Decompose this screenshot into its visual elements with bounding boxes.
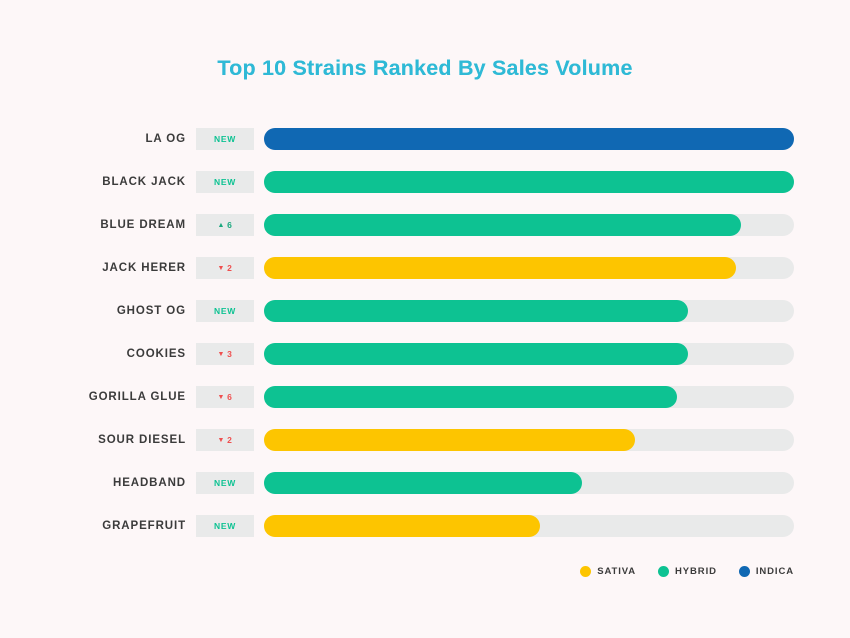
bar-fill[interactable]: [264, 257, 736, 279]
bar-fill[interactable]: [264, 128, 794, 150]
bar-row[interactable]: JACK HERER▼2: [0, 257, 850, 279]
bar-track: [264, 171, 794, 193]
rank-change-label: 3: [227, 349, 232, 359]
legend-label: SATIVA: [597, 566, 636, 577]
row-label: LA OG: [0, 128, 186, 150]
arrow-down-icon: ▼: [217, 437, 225, 444]
bar-row[interactable]: GORILLA GLUE▼6: [0, 386, 850, 408]
arrow-down-icon: ▼: [217, 265, 225, 272]
bar-fill[interactable]: [264, 429, 635, 451]
rank-change-badge: NEW: [196, 472, 254, 494]
chart-title: Top 10 Strains Ranked By Sales Volume: [0, 56, 850, 81]
strain-sales-chart-card: Top 10 Strains Ranked By Sales Volume LA…: [0, 0, 850, 638]
bar-track: [264, 472, 794, 494]
arrow-down-icon: ▼: [217, 351, 225, 358]
rank-change-label: NEW: [214, 306, 236, 316]
rank-change-badge: NEW: [196, 515, 254, 537]
bar-track: [264, 515, 794, 537]
legend-item[interactable]: HYBRID: [658, 566, 717, 577]
bar-fill[interactable]: [264, 343, 688, 365]
rank-change-badge: ▲6: [196, 214, 254, 236]
bar-row[interactable]: GRAPEFRUITNEW: [0, 515, 850, 537]
bar-fill[interactable]: [264, 472, 582, 494]
legend-label: HYBRID: [675, 566, 717, 577]
row-label: COOKIES: [0, 343, 186, 365]
bar-fill[interactable]: [264, 386, 677, 408]
row-label: HEADBAND: [0, 472, 186, 494]
row-label: BLUE DREAM: [0, 214, 186, 236]
rank-change-badge: NEW: [196, 171, 254, 193]
bar-track: [264, 429, 794, 451]
rank-change-badge: ▼3: [196, 343, 254, 365]
rank-change-label: 2: [227, 263, 232, 273]
bar-track: [264, 300, 794, 322]
bar-row[interactable]: COOKIES▼3: [0, 343, 850, 365]
rank-change-label: 6: [227, 220, 232, 230]
legend-item[interactable]: SATIVA: [580, 566, 636, 577]
rank-change-badge: NEW: [196, 128, 254, 150]
bar-rows-container: LA OGNEWBLACK JACKNEWBLUE DREAM▲6JACK HE…: [0, 128, 850, 558]
rank-change-badge: ▼2: [196, 429, 254, 451]
legend-dot-icon: [580, 566, 591, 577]
bar-track: [264, 128, 794, 150]
bar-fill[interactable]: [264, 214, 741, 236]
rank-change-label: 6: [227, 392, 232, 402]
legend-label: INDICA: [756, 566, 794, 577]
legend-dot-icon: [739, 566, 750, 577]
row-label: SOUR DIESEL: [0, 429, 186, 451]
arrow-down-icon: ▼: [217, 394, 225, 401]
row-label: GORILLA GLUE: [0, 386, 186, 408]
bar-row[interactable]: LA OGNEW: [0, 128, 850, 150]
bar-row[interactable]: GHOST OGNEW: [0, 300, 850, 322]
chart-legend: SATIVAHYBRIDINDICA: [580, 566, 794, 577]
rank-change-label: NEW: [214, 521, 236, 531]
bar-row[interactable]: BLACK JACKNEW: [0, 171, 850, 193]
rank-change-label: NEW: [214, 478, 236, 488]
arrow-up-icon: ▲: [217, 222, 225, 229]
bar-fill[interactable]: [264, 300, 688, 322]
rank-change-label: 2: [227, 435, 232, 445]
legend-item[interactable]: INDICA: [739, 566, 794, 577]
row-label: GHOST OG: [0, 300, 186, 322]
rank-change-badge: NEW: [196, 300, 254, 322]
row-label: GRAPEFRUIT: [0, 515, 186, 537]
rank-change-label: NEW: [214, 134, 236, 144]
bar-track: [264, 214, 794, 236]
rank-change-badge: ▼6: [196, 386, 254, 408]
bar-row[interactable]: BLUE DREAM▲6: [0, 214, 850, 236]
bar-track: [264, 257, 794, 279]
bar-track: [264, 386, 794, 408]
row-label: JACK HERER: [0, 257, 186, 279]
bar-row[interactable]: SOUR DIESEL▼2: [0, 429, 850, 451]
bar-fill[interactable]: [264, 515, 540, 537]
row-label: BLACK JACK: [0, 171, 186, 193]
bar-row[interactable]: HEADBANDNEW: [0, 472, 850, 494]
bar-track: [264, 343, 794, 365]
rank-change-label: NEW: [214, 177, 236, 187]
rank-change-badge: ▼2: [196, 257, 254, 279]
legend-dot-icon: [658, 566, 669, 577]
bar-fill[interactable]: [264, 171, 794, 193]
